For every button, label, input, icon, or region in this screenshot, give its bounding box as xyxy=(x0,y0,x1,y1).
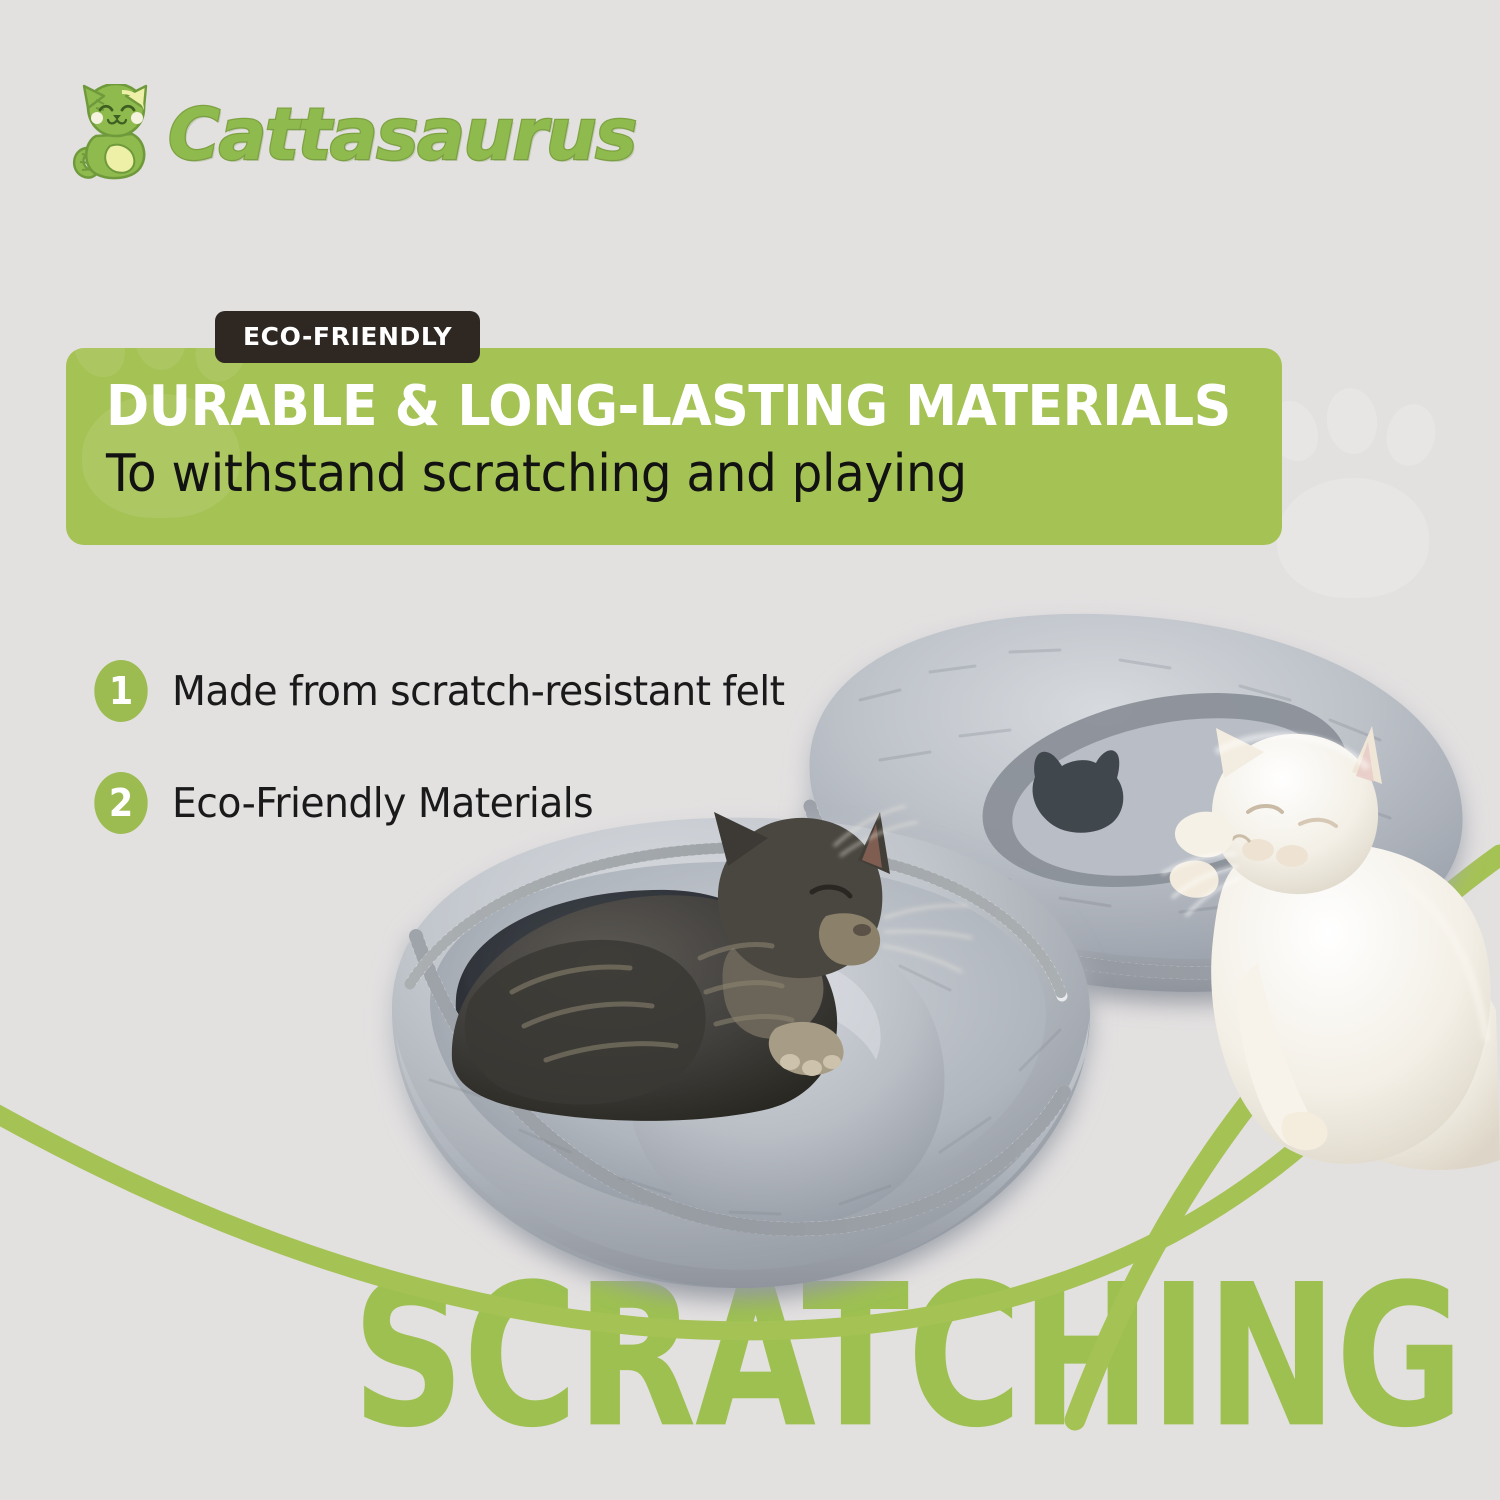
feature-list: 1 Made from scratch-resistant felt 2 Eco… xyxy=(92,660,810,884)
feature-number-badge-1: 1 xyxy=(94,660,147,722)
white-cat-scratching xyxy=(1162,726,1500,1170)
feature-number-badge-2: 2 xyxy=(94,772,147,834)
felt-tunnel-upper xyxy=(806,614,1463,992)
banner-subheadline: To withstand scratching and playing xyxy=(106,447,1168,502)
feature-item-1: 1 Made from scratch-resistant felt xyxy=(92,660,810,722)
cat-head-cutout-icon xyxy=(1033,750,1124,832)
product-infographic: Cattasaurus DURABLE & LONG-LASTING MATER… xyxy=(0,0,1500,1500)
green-kitten-mascot-icon xyxy=(66,84,158,184)
eco-friendly-badge: ECO-FRIENDLY xyxy=(215,311,480,363)
brand-wordmark: Cattasaurus xyxy=(168,99,636,170)
feature-item-2: 2 Eco-Friendly Materials xyxy=(92,772,810,834)
footer-keyword: SCRATCHING xyxy=(352,1258,1462,1455)
feature-label-1: Made from scratch-resistant felt xyxy=(172,671,785,712)
feature-label-2: Eco-Friendly Materials xyxy=(172,783,593,824)
paw-print-icon-background xyxy=(1255,400,1465,630)
felt-bowl-lower xyxy=(392,818,1090,1288)
headline-banner: DURABLE & LONG-LASTING MATERIALS To with… xyxy=(66,348,1282,545)
brand-logo: Cattasaurus xyxy=(66,82,636,186)
banner-headline: DURABLE & LONG-LASTING MATERIALS xyxy=(106,378,1168,435)
